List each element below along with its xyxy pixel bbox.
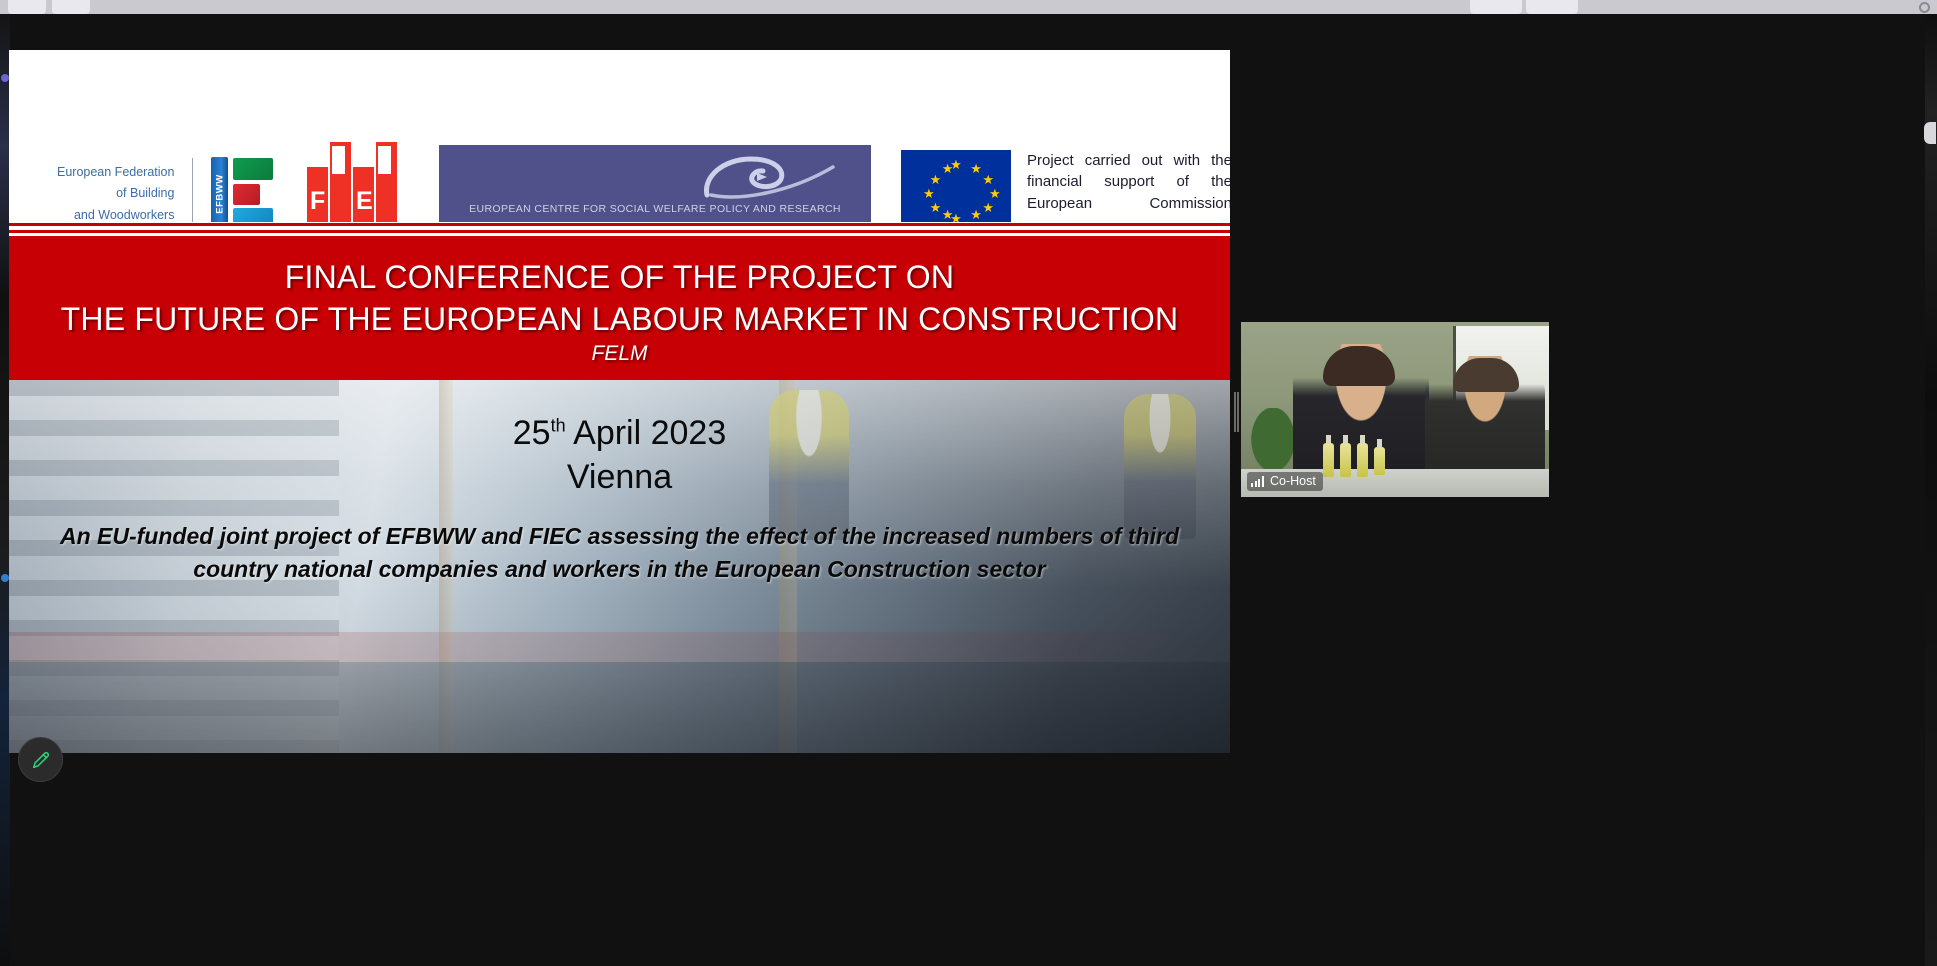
slide-title-acronym: FELM [9,342,1230,366]
slide-title-line-2: THE FUTURE OF THE EUROPEAN LABOUR MARKET… [9,298,1230,340]
video-bottle [1340,443,1351,477]
eu-flag-icon: ★ ★ ★ ★ ★ ★ ★ ★ ★ ★ ★ ★ [901,150,1011,224]
os-chrome-strip [0,0,1937,14]
video-plant [1247,408,1299,478]
efbww-vertical-bar: EFBWW [211,157,228,231]
european-commission-block: ★ ★ ★ ★ ★ ★ ★ ★ ★ ★ ★ ★ Project carried … [901,150,1230,224]
european-centre-caption: EUROPEAN CENTRE FOR SOCIAL WELFARE POLIC… [439,203,871,215]
shared-slide: European Federation of Building and Wood… [9,50,1230,753]
slide-subtitle: An EU-funded joint project of EFBWW and … [49,520,1190,587]
edge-pill-icon [1924,122,1936,144]
fiec-notch [330,144,347,174]
fiec-notch [376,144,393,174]
event-date-rest: April 2023 [566,414,727,452]
slide-title-line-1: FINAL CONFERENCE OF THE PROJECT ON [9,256,1230,298]
european-commission-text: Project carried out with the financial s… [1027,150,1230,214]
microphone-level-icon [1251,476,1265,487]
european-centre-logo: EUROPEAN CENTRE FOR SOCIAL WELFARE POLIC… [439,145,871,224]
slide-logo-bar: European Federation of Building and Wood… [9,50,1230,222]
panel-drag-handle[interactable] [1233,392,1239,432]
os-account-icon[interactable] [1919,2,1930,13]
slide-title-banner: FINAL CONFERENCE OF THE PROJECT ON THE F… [9,238,1230,380]
pen-icon [30,749,52,771]
video-bottle [1323,443,1334,477]
efbww-red-block-icon [233,184,260,205]
participant-name-badge: Co-Host [1247,472,1323,491]
annotate-pen-button[interactable] [18,737,63,782]
red-rule [9,230,1230,233]
participant-video-thumbnail[interactable]: Co-Host [1241,322,1549,497]
efbww-green-block-icon [233,158,273,180]
video-bottle [1374,447,1385,475]
fiec-letter: I [336,187,343,216]
event-date-ordinal: th [551,416,566,436]
video-bottle [1357,443,1368,477]
os-tab-3[interactable] [1470,0,1522,14]
fiec-logo: F I E C [307,142,399,230]
fiec-letter: F [310,187,325,216]
event-city: Vienna [9,456,1230,500]
event-date-day: 25 [513,414,551,452]
os-tab-1[interactable] [8,0,46,14]
edge-dot-icon [1,574,9,582]
right-edge-strip [1925,14,1937,966]
participant-name-label: Co-Host [1270,474,1316,488]
red-rule-group [9,222,1230,238]
red-rule [9,223,1230,226]
swirl-icon [697,151,837,201]
fiec-letter: E [356,187,373,216]
os-tab-4[interactable] [1526,0,1578,14]
efbww-bar-label: EFBWW [214,174,225,213]
logo-divider [192,158,193,230]
slide-photo-body: 25th April 2023 Vienna An EU-funded join… [9,380,1230,753]
efbww-logo-text: European Federation of Building and Wood… [57,162,174,227]
os-tab-2[interactable] [52,0,90,14]
event-date-block: 25th April 2023 Vienna [9,380,1230,499]
edge-dot-icon [1,74,9,82]
fiec-letter: C [378,187,396,216]
event-date: 25th April 2023 [9,412,1230,456]
